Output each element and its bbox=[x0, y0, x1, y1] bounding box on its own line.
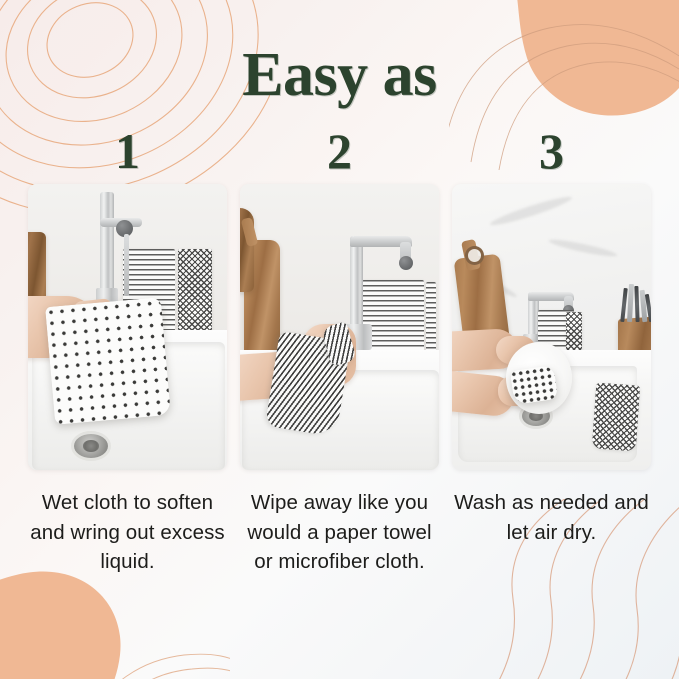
hanging-zigzag-cloth bbox=[178, 249, 212, 335]
steps-container: 1 bbox=[28, 126, 651, 577]
step-photo-3 bbox=[452, 184, 651, 470]
step-column-2: 2 bbox=[240, 126, 439, 577]
faucet-aerator bbox=[399, 256, 413, 270]
faucet-spout bbox=[124, 234, 129, 296]
step-caption-3: Wash as needed and let air dry. bbox=[452, 488, 651, 547]
page-title: Easy as bbox=[0, 44, 679, 106]
step-column-3: 3 bbox=[452, 126, 651, 577]
step-photo-2 bbox=[240, 184, 439, 470]
draped-zigzag-cloth bbox=[592, 383, 640, 452]
sink-drain bbox=[74, 434, 108, 458]
step-column-1: 1 bbox=[28, 126, 227, 577]
faucet-column bbox=[100, 192, 114, 302]
dotted-sponge-cloth bbox=[510, 365, 558, 405]
step-photo-1 bbox=[28, 184, 227, 470]
step-number-3: 3 bbox=[539, 126, 564, 178]
drying-zigzag-cloth bbox=[566, 312, 582, 354]
step-number-1: 1 bbox=[115, 126, 140, 178]
poster-canvas: Easy as 1 bbox=[0, 0, 679, 679]
step-number-2: 2 bbox=[327, 126, 352, 178]
step-caption-2: Wipe away like you would a paper towel o… bbox=[240, 488, 439, 577]
faucet-column bbox=[350, 236, 363, 332]
dotted-sponge-cloth bbox=[45, 297, 171, 425]
cutting-board-hole bbox=[465, 246, 484, 265]
step-caption-1: Wet cloth to soften and wring out excess… bbox=[28, 488, 227, 577]
